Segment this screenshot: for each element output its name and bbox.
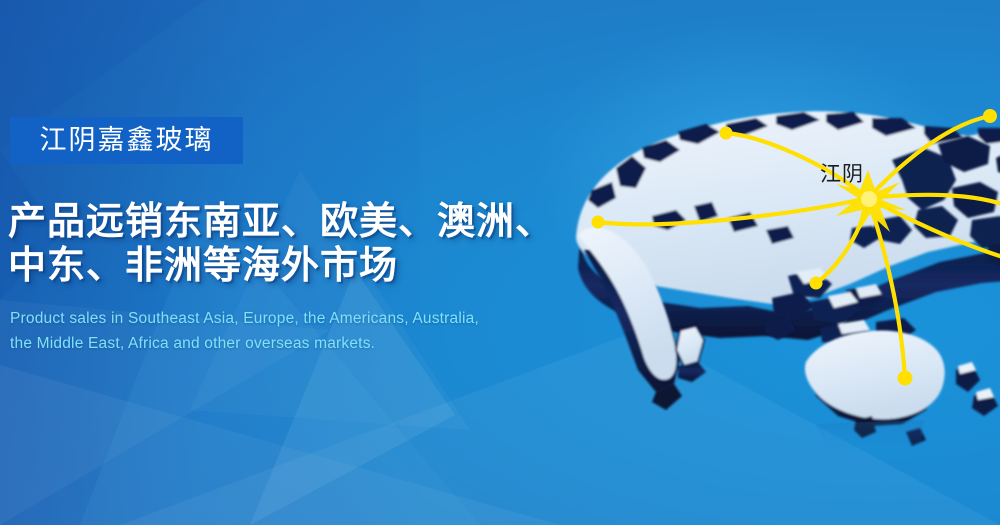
company-badge-label: 江阴嘉鑫玻璃 bbox=[40, 127, 214, 154]
madagascar-landmass bbox=[676, 326, 704, 366]
map-hub-label: 江阴 bbox=[820, 164, 864, 185]
route-endpoint-australia bbox=[898, 371, 913, 386]
australia-landmass bbox=[805, 331, 945, 420]
banner-hero: 江阴 江阴嘉鑫玻璃 产品远销东南亚、欧美、澳洲、 中东、非洲等海外市场 Prod… bbox=[0, 0, 1000, 525]
route-endpoint-northeast bbox=[983, 109, 997, 123]
subheadline-english: Product sales in Southeast Asia, Europe,… bbox=[10, 306, 585, 356]
company-badge: 江阴嘉鑫玻璃 bbox=[10, 117, 243, 164]
route-endpoint-europe bbox=[720, 127, 733, 140]
route-endpoint-southeast-asia bbox=[810, 277, 823, 290]
headline-chinese: 产品远销东南亚、欧美、澳洲、 中东、非洲等海外市场 bbox=[8, 200, 608, 288]
